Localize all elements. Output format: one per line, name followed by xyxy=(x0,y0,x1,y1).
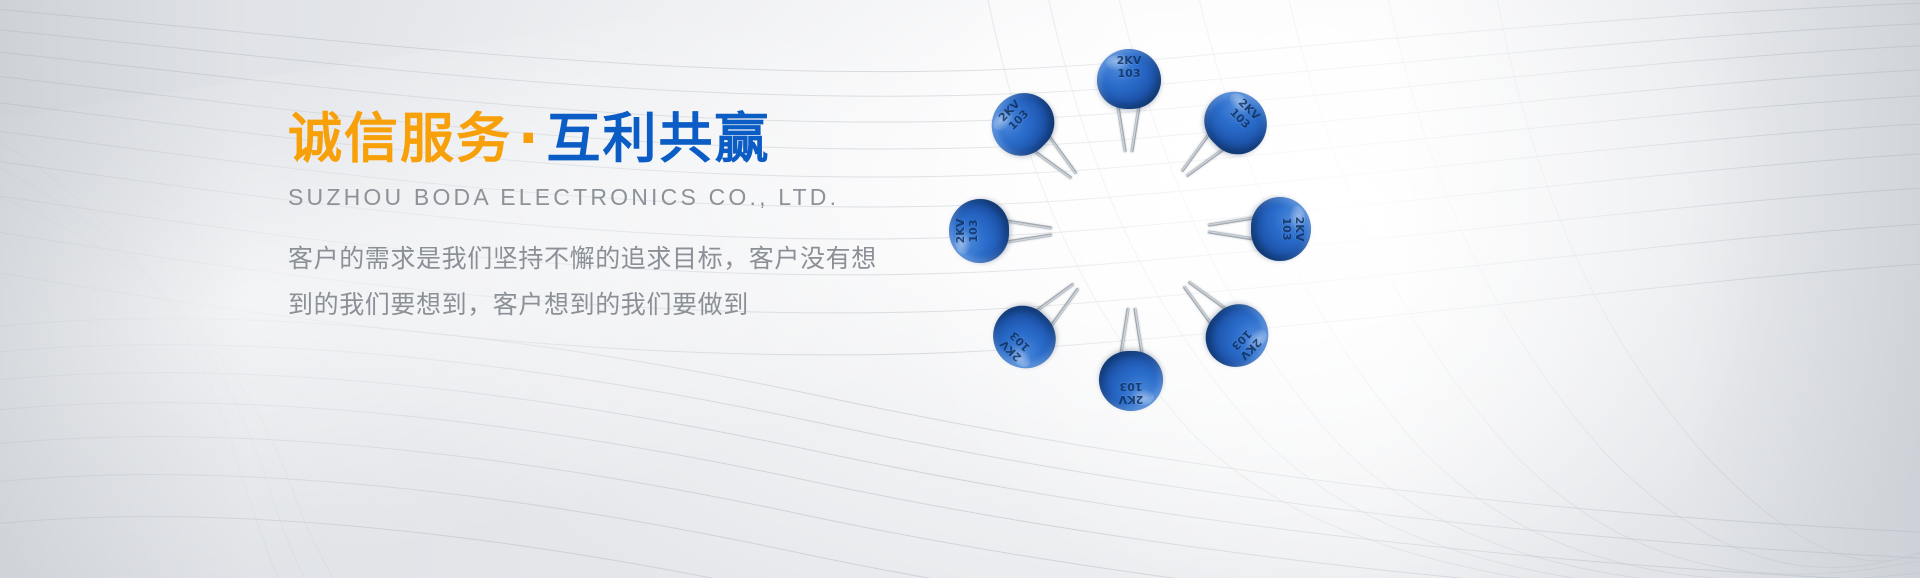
capacitor-marking: 2KV 103 xyxy=(1280,197,1305,261)
banner-description: 客户的需求是我们坚持不懈的追求目标，客户没有想 到的我们要想到，客户想到的我们要… xyxy=(288,237,988,328)
capacitor-marking-voltage: 2KV xyxy=(1293,217,1306,242)
banner-headline: 诚信服务·互利共赢 xyxy=(288,112,988,166)
capacitor-marking-code: 103 xyxy=(1280,218,1293,241)
description-line-2: 到的我们要想到，客户想到的我们要做到 xyxy=(288,283,988,329)
banner-copy: 诚信服务·互利共赢 SUZHOU BODA ELECTRONICS CO., L… xyxy=(288,112,988,328)
banner-subline-company-name: SUZHOU BODA ELECTRONICS CO., LTD. xyxy=(288,184,988,211)
headline-part-blue: 互利共赢 xyxy=(547,107,771,170)
capacitor-marking-voltage: 2KV xyxy=(1117,54,1142,67)
capacitor-ring: 2KV 103 2KV 103 2KV xyxy=(940,40,1320,420)
hero-banner: 诚信服务·互利共赢 SUZHOU BODA ELECTRONICS CO., L… xyxy=(0,0,1920,578)
capacitor-marking-code: 103 xyxy=(967,220,980,243)
capacitor-marking-code: 103 xyxy=(1120,380,1143,393)
description-line-1: 客户的需求是我们坚持不懈的追求目标，客户没有想 xyxy=(288,237,988,283)
headline-separator-dot: · xyxy=(512,107,547,170)
capacitor-marking: 2KV 103 xyxy=(1099,380,1163,405)
capacitor-marking-code: 103 xyxy=(1118,67,1141,80)
capacitor-marking: 2KV 103 xyxy=(955,199,980,263)
capacitor-marking: 2KV 103 xyxy=(1097,55,1161,80)
capacitor-marking-voltage: 2KV xyxy=(1119,393,1144,406)
headline-part-orange: 诚信服务 xyxy=(288,107,512,170)
capacitor-marking-voltage: 2KV xyxy=(954,219,967,244)
